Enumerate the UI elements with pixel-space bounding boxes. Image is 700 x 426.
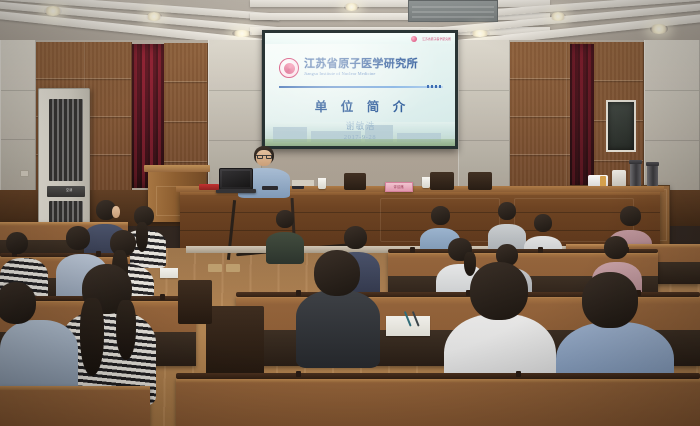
audience-member-front [296, 250, 380, 366]
paper-sheet [292, 180, 314, 186]
watermark-logo-icon [411, 36, 417, 42]
slide-title: 单 位 简 介 [265, 96, 455, 115]
air-conditioner: 空调 [38, 88, 90, 238]
laptop-screen [219, 168, 253, 190]
desk-foreground-left [0, 386, 150, 426]
ac-brand-label: 空调 [66, 188, 72, 192]
org-name-cn: 江苏省原子医学研究所 [304, 59, 418, 71]
ceiling-light [650, 24, 668, 34]
org-name-en: Jiangsu Institute of Nuclear Medicine [304, 72, 418, 77]
paper-cup [318, 178, 326, 189]
paper-cup [422, 177, 430, 188]
laptop-base [216, 189, 256, 193]
table-nameplate: 评议席 [385, 182, 413, 192]
ceiling-light [344, 3, 359, 11]
slide-watermark-bar: 江苏省原子医学研究所 [265, 33, 455, 44]
lecture-hall-photo: 空调 江苏省原子医学研究所 江苏省原子医学研究所 Jiangsu Instit [0, 0, 700, 426]
audience-member-front [0, 282, 78, 402]
notebook [160, 268, 178, 278]
service-window [606, 100, 636, 152]
ceiling-light [232, 30, 252, 37]
electric-kettle [612, 170, 626, 187]
ceiling-light [550, 12, 566, 21]
wall-socket [20, 170, 29, 177]
slide-background-photo [265, 122, 455, 146]
chair [178, 280, 212, 324]
thermos-flask [630, 163, 641, 187]
microphone [262, 186, 278, 190]
desk-foreground [176, 378, 700, 426]
institute-logo-icon [279, 58, 299, 78]
curtain-right [570, 44, 594, 194]
thermos-flask [647, 165, 658, 187]
ceiling-vent-icon [408, 0, 498, 22]
projection-screen: 江苏省原子医学研究所 江苏省原子医学研究所 Jiangsu Institute … [262, 30, 458, 149]
stage-chair [344, 173, 366, 190]
slide-org-header: 江苏省原子医学研究所 Jiangsu Institute of Nuclear … [279, 58, 445, 78]
ceiling-light [146, 12, 162, 21]
ceiling-light [44, 6, 62, 16]
slide-divider [279, 86, 443, 88]
floor-outlet [208, 264, 222, 272]
floor-outlet [226, 264, 240, 272]
nameplate-text: 评议席 [394, 185, 404, 190]
stage-chair [430, 172, 454, 190]
watermark-text: 江苏省原子医学研究所 [422, 37, 451, 41]
stage-chair [468, 172, 492, 190]
red-item [199, 184, 219, 190]
chair [206, 306, 264, 376]
ceiling-light [470, 30, 490, 37]
